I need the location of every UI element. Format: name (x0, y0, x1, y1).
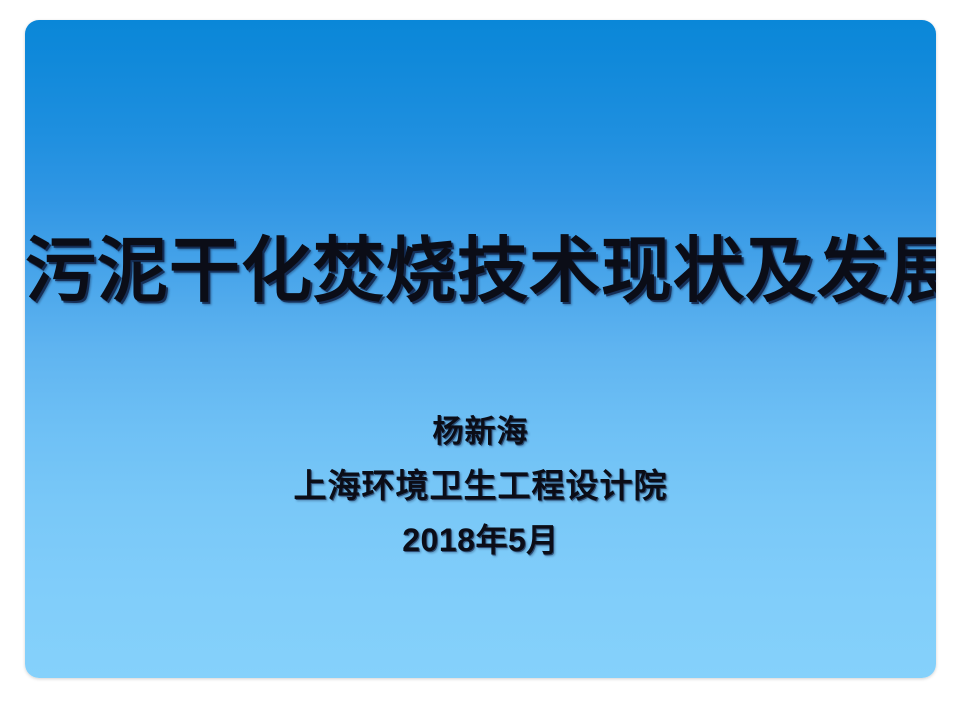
slide-panel: 污泥干化焚烧技术现状及发展 杨新海 上海环境卫生工程设计院 2018年5月 (25, 20, 936, 678)
presentation-date: 2018年5月 (25, 513, 936, 567)
presenter-name: 杨新海 (25, 405, 936, 459)
subtitle-block: 杨新海 上海环境卫生工程设计院 2018年5月 (25, 405, 936, 567)
slide-title: 污泥干化焚烧技术现状及发展 (25, 235, 936, 310)
organization-name: 上海环境卫生工程设计院 (25, 459, 936, 513)
title-block: 污泥干化焚烧技术现状及发展 (25, 235, 936, 310)
slide-root: 污泥干化焚烧技术现状及发展 杨新海 上海环境卫生工程设计院 2018年5月 (0, 0, 960, 720)
